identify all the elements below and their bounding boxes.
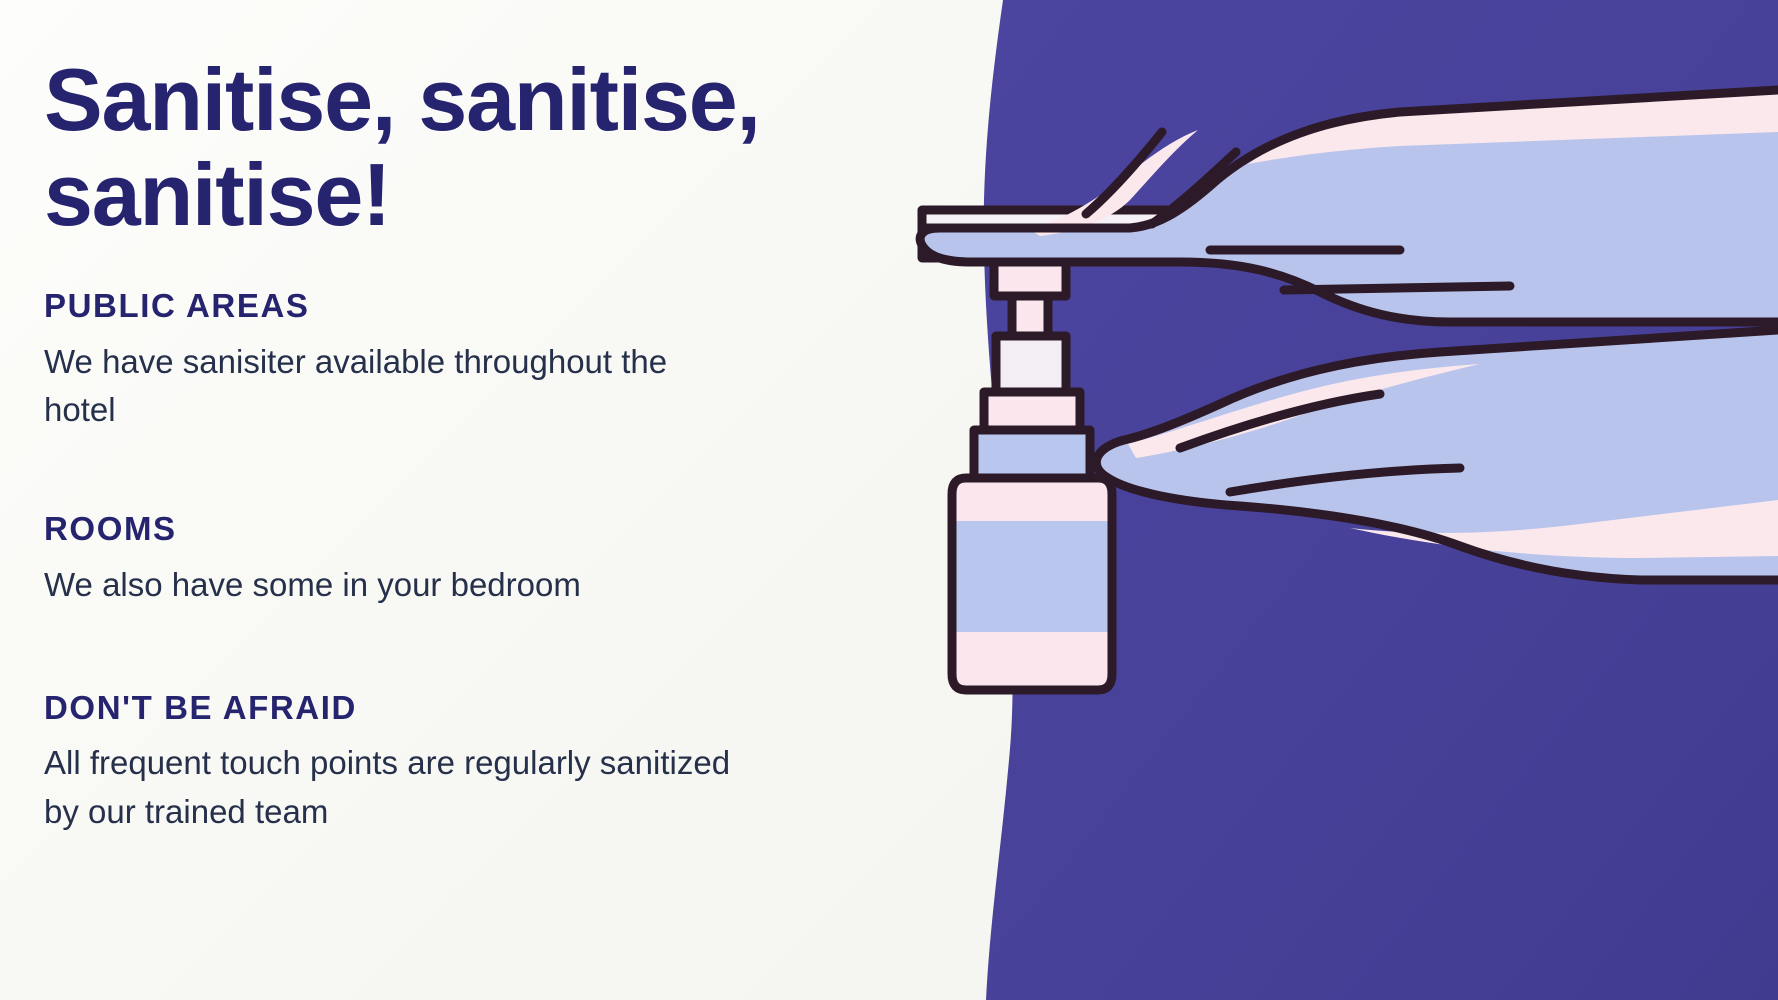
page-title: Sanitise, sanitise, sanitise! <box>44 52 874 242</box>
section-heading-public-areas: PUBLIC AREAS <box>44 286 900 326</box>
section-public-areas: PUBLIC AREAS We have sanisiter available… <box>44 286 900 435</box>
pump-mid-collar <box>996 336 1066 392</box>
pump-lower-sleeve <box>984 392 1080 430</box>
sanitiser-bottle <box>952 478 1112 690</box>
bottle-neck-collar <box>974 430 1090 478</box>
section-dont-be-afraid: DON'T BE AFRAID All frequent touch point… <box>44 688 900 837</box>
hands-pressing-sanitiser-pump-illustration <box>880 0 1778 1000</box>
section-body-rooms: We also have some in your bedroom <box>44 561 734 610</box>
section-heading-rooms: ROOMS <box>44 509 900 549</box>
bottom-hand-receiving-gel <box>1096 330 1778 580</box>
pump-stem <box>1012 296 1048 336</box>
section-heading-dont-be-afraid: DON'T BE AFRAID <box>44 688 900 728</box>
section-rooms: ROOMS We also have some in your bedroom <box>44 509 900 609</box>
text-column: Sanitise, sanitise, sanitise! PUBLIC ARE… <box>0 0 900 1000</box>
poster-canvas: Sanitise, sanitise, sanitise! PUBLIC ARE… <box>0 0 1778 1000</box>
section-body-public-areas: We have sanisiter available throughout t… <box>44 338 734 436</box>
section-body-dont-be-afraid: All frequent touch points are regularly … <box>44 739 734 837</box>
